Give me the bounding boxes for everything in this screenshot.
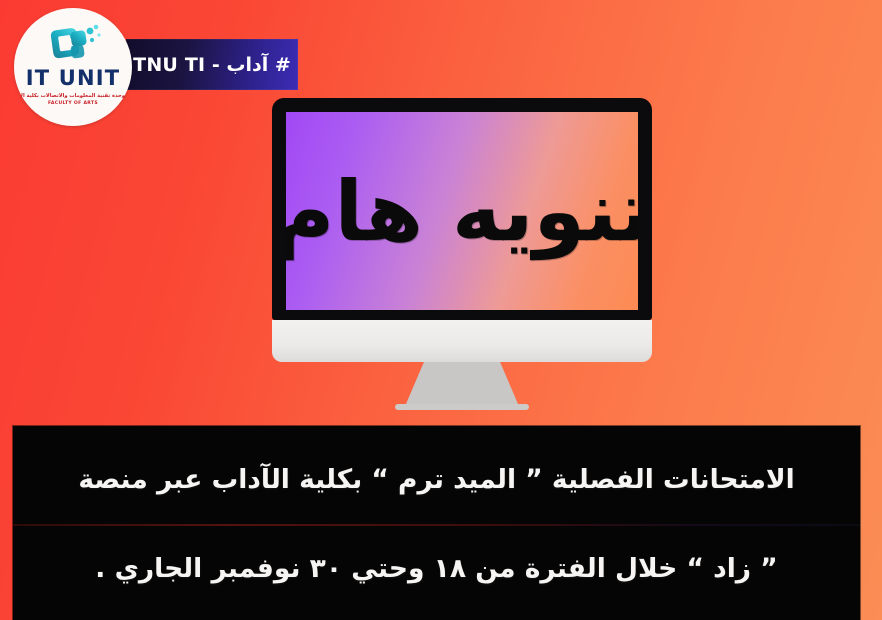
logo-wordmark: IT UNIT [26, 68, 121, 89]
monitor-stand-base [395, 404, 529, 410]
monitor-bezel: تنويه هام [272, 98, 652, 320]
screen-headline: تنويه هام [286, 170, 638, 253]
logo-subtitle-english: FACULTY OF ARTS [48, 101, 98, 106]
logo-subtitle-arabic: وحدة تقنية المعلومات والاتصالات بكلية ال… [21, 93, 125, 100]
monitor-stand-neck [406, 362, 518, 404]
monitor-illustration: تنويه هام [272, 98, 652, 410]
notice-line-2: ” زاد “ خلال الفترة من ١٨ وحتي ٣٠ نوفمبر… [13, 553, 860, 584]
announcement-poster: IT UNIT وحدة تقنية المعلومات والاتصالات … [0, 0, 882, 620]
notice-line-1: الامتحانات الفصلية ” الميد ترم “ بكلية ا… [13, 464, 860, 495]
hashtag-text: # آداب - IT UNT [133, 54, 291, 76]
monitor-screen: تنويه هام [286, 112, 638, 310]
notice-panel: الامتحانات الفصلية ” الميد ترم “ بكلية ا… [13, 426, 860, 620]
notice-divider [13, 524, 860, 526]
it-unit-logo-badge: IT UNIT وحدة تقنية المعلومات والاتصالات … [14, 8, 132, 126]
it-unit-puzzle-logo-icon [42, 21, 104, 65]
hashtag-banner: # آداب - IT UNT [126, 39, 298, 90]
monitor-chin [272, 320, 652, 362]
